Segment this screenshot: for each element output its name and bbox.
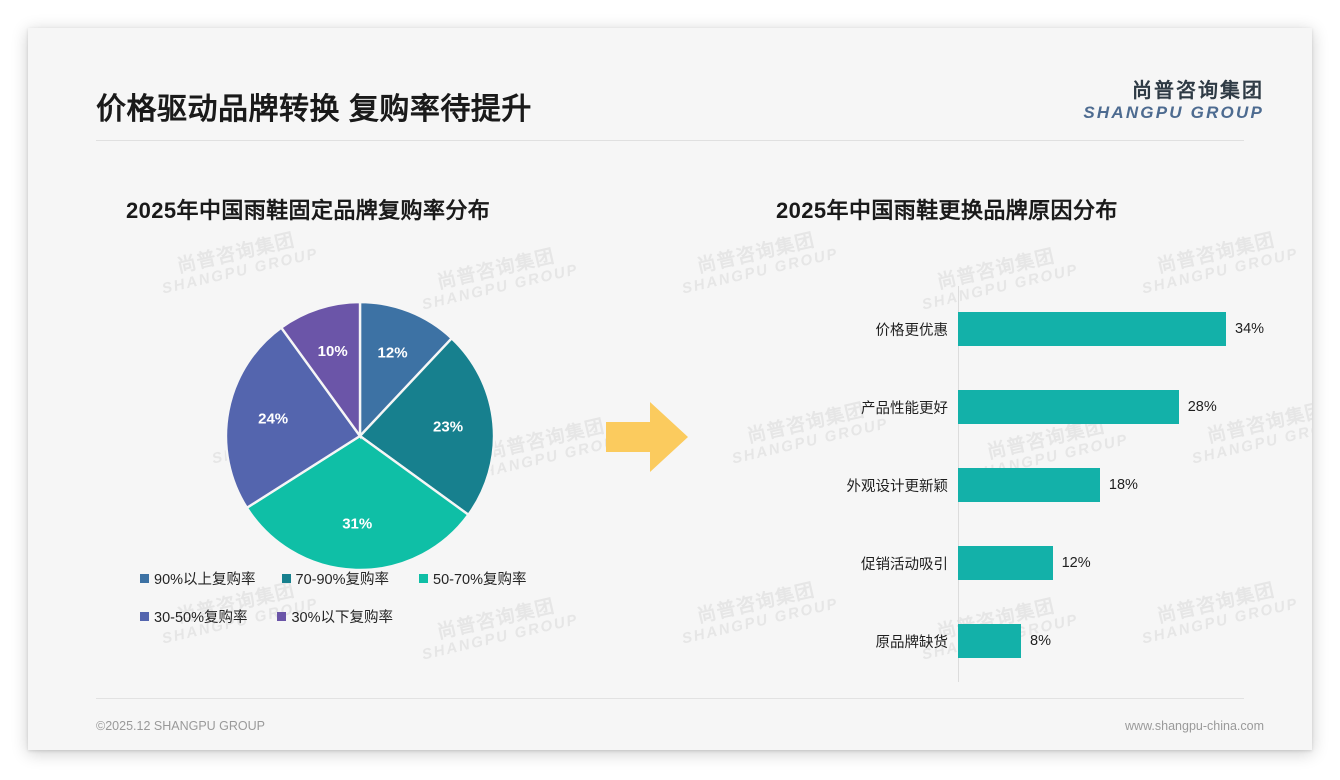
footnote-divider — [96, 698, 1244, 699]
legend-item[interactable]: 30-50%复购率 — [140, 606, 247, 627]
bar-category-label: 促销活动吸引 — [788, 553, 958, 574]
bar-fill[interactable] — [958, 390, 1179, 424]
bar-fill[interactable] — [958, 468, 1100, 502]
watermark-text: 尚普咨询集团SHANGPU GROUP — [156, 225, 321, 298]
legend-label: 90%以上复购率 — [154, 568, 256, 589]
bar-fill[interactable] — [958, 546, 1053, 580]
legend-item[interactable]: 70-90%复购率 — [282, 568, 389, 589]
pie-slice-label: 10% — [318, 343, 348, 360]
footer-website[interactable]: www.shangpu-china.com — [1125, 719, 1264, 733]
bar-category-label: 原品牌缺货 — [788, 631, 958, 652]
legend-row: 30-50%复购率30%以下复购率 — [140, 606, 610, 627]
pie-chart: 12%23%31%24%10% — [224, 300, 496, 572]
arrow-shape — [606, 402, 688, 472]
bar-category-label: 价格更优惠 — [788, 319, 958, 340]
legend-label: 30-50%复购率 — [154, 606, 247, 627]
bar-value-label: 8% — [1021, 633, 1051, 649]
bar-chart-row: 产品性能更好28% — [788, 390, 1278, 424]
legend-item[interactable]: 90%以上复购率 — [140, 568, 256, 589]
slide-canvas: 尚普咨询集团SHANGPU GROUP尚普咨询集团SHANGPU GROUP尚普… — [28, 28, 1312, 750]
legend-item[interactable]: 30%以下复购率 — [277, 606, 393, 627]
bar-value-label: 12% — [1053, 555, 1091, 571]
bar-fill[interactable] — [958, 312, 1226, 346]
bar-value-label: 28% — [1179, 399, 1217, 415]
legend-label: 30%以下复购率 — [291, 606, 393, 627]
bar-chart: 价格更优惠34%产品性能更好28%外观设计更新颖18%促销活动吸引12%原品牌缺… — [788, 286, 1278, 682]
logo-chinese-text: 尚普咨询集团 — [1083, 80, 1264, 103]
bar-value-label: 34% — [1226, 321, 1264, 337]
bar-category-label: 外观设计更新颖 — [788, 475, 958, 496]
bar-category-label: 产品性能更好 — [788, 397, 958, 418]
pie-slice-label: 12% — [378, 345, 408, 362]
bar-chart-row: 促销活动吸引12% — [788, 546, 1278, 580]
header-divider — [96, 140, 1244, 141]
legend-swatch-icon — [282, 574, 291, 583]
footer-copyright: ©2025.12 SHANGPU GROUP — [96, 719, 265, 733]
bar-chart-row: 外观设计更新颖18% — [788, 468, 1278, 502]
bar-fill[interactable] — [958, 624, 1021, 658]
legend-swatch-icon — [419, 574, 428, 583]
slide-header: 价格驱动品牌转换 复购率待提升 尚普咨询集团 SHANGPU GROUP — [28, 28, 1312, 140]
pie-chart-svg: 12%23%31%24%10% — [224, 300, 496, 572]
legend-swatch-icon — [140, 574, 149, 583]
pie-slice-label: 31% — [342, 515, 372, 532]
bar-value-label: 18% — [1100, 477, 1138, 493]
bar-chart-title: 2025年中国雨鞋更换品牌原因分布 — [776, 193, 1118, 225]
legend-row: 90%以上复购率70-90%复购率50-70%复购率 — [140, 568, 610, 589]
right-arrow-icon — [606, 400, 690, 479]
bar-chart-row: 价格更优惠34% — [788, 312, 1278, 346]
pie-slice-label: 23% — [433, 419, 463, 436]
legend-swatch-icon — [277, 612, 286, 621]
legend-swatch-icon — [140, 612, 149, 621]
pie-slice-label: 24% — [258, 410, 288, 427]
legend-label: 50-70%复购率 — [433, 568, 526, 589]
legend-label: 70-90%复购率 — [296, 568, 389, 589]
brand-logo: 尚普咨询集团 SHANGPU GROUP — [1083, 80, 1264, 123]
pie-chart-legend: 90%以上复购率70-90%复购率50-70%复购率30-50%复购率30%以下… — [140, 568, 610, 644]
logo-english-text: SHANGPU GROUP — [1083, 103, 1264, 123]
pie-chart-title: 2025年中国雨鞋固定品牌复购率分布 — [126, 193, 490, 225]
bar-chart-row: 原品牌缺货8% — [788, 624, 1278, 658]
legend-item[interactable]: 50-70%复购率 — [419, 568, 526, 589]
page-title: 价格驱动品牌转换 复购率待提升 — [96, 84, 532, 128]
